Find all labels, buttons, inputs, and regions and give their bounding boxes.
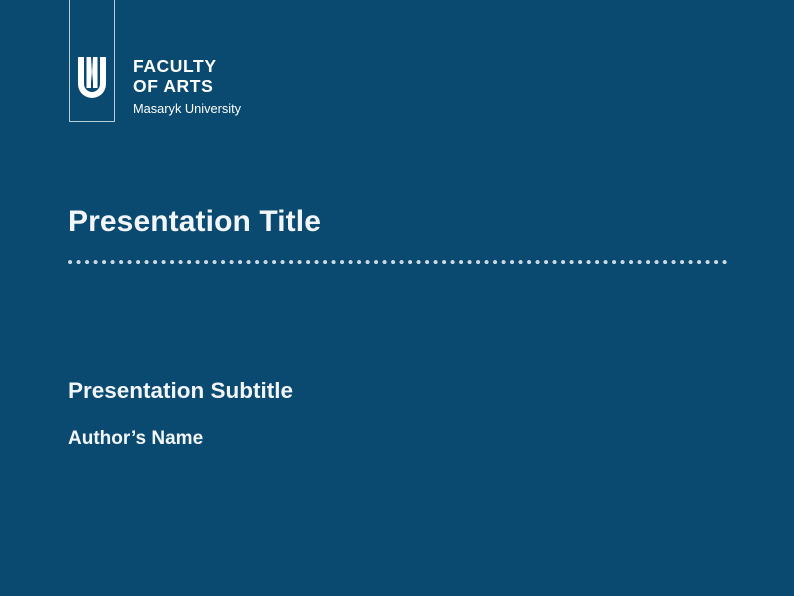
dotted-divider <box>68 260 729 265</box>
mu-monogram-icon <box>77 56 107 102</box>
logo-line-of-arts: OF ARTS <box>133 76 363 96</box>
presentation-title-slide: FACULTY OF ARTS Masaryk University Prese… <box>0 0 794 596</box>
logo-line-university: Masaryk University <box>133 99 363 118</box>
logo-line-faculty: FACULTY <box>133 56 363 76</box>
logo-wordmark: FACULTY OF ARTS Masaryk University <box>133 56 363 118</box>
page-subtitle: Presentation Subtitle <box>68 378 293 404</box>
author-name: Author’s Name <box>68 428 203 450</box>
faculty-logo: FACULTY OF ARTS Masaryk University <box>69 0 369 130</box>
page-title: Presentation Title <box>68 205 321 239</box>
